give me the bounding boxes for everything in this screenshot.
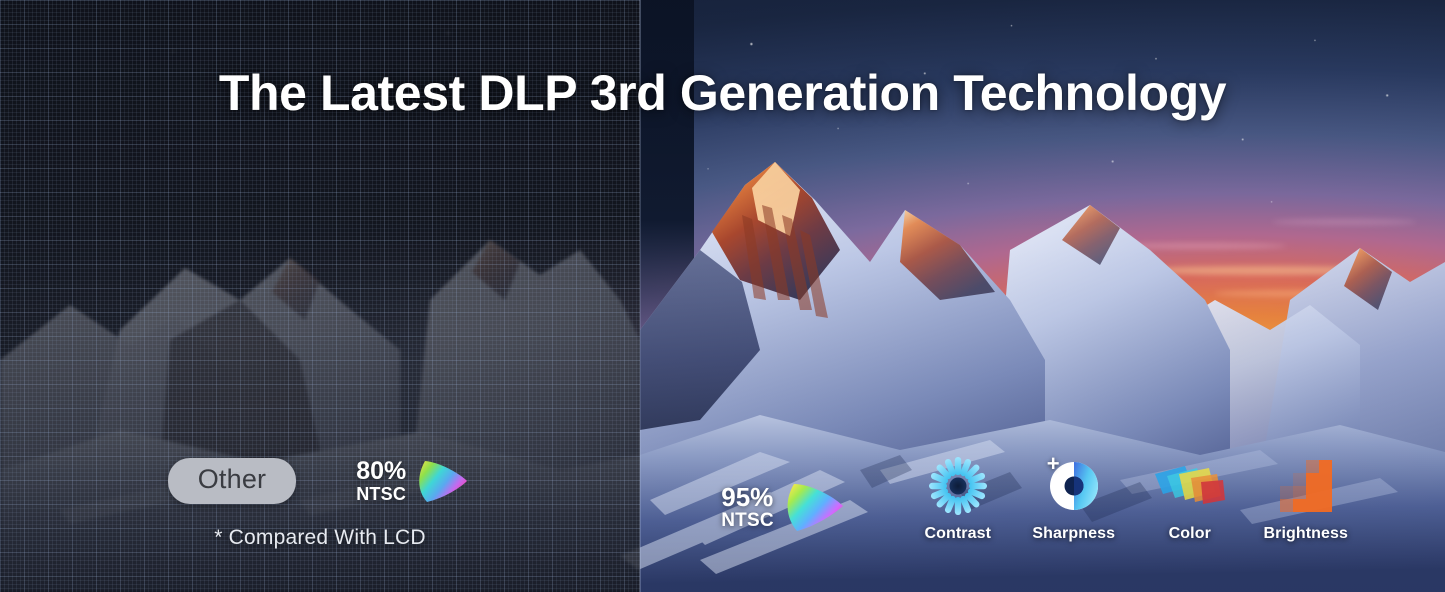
brightness-cell	[1306, 460, 1319, 473]
brightness-cell	[1306, 486, 1319, 499]
brightness-cell	[1293, 473, 1306, 486]
ntsc-95-label: NTSC	[721, 511, 774, 530]
brightness-cell	[1319, 460, 1332, 473]
dlp-panel-content: 95% NTSC	[640, 455, 1445, 543]
feature-contrast-label: Contrast	[924, 525, 991, 543]
brightness-cell	[1293, 499, 1306, 512]
comparison-footnote: * Compared With LCD	[0, 526, 640, 550]
brightness-cell	[1293, 460, 1306, 473]
brightness-cell	[1319, 473, 1332, 486]
other-label-pill: Other	[168, 458, 297, 503]
brightness-cell	[1306, 499, 1319, 512]
ntsc-95-percent: 95%	[721, 484, 774, 511]
plus-badge-icon: +	[1047, 453, 1060, 475]
contrast-burst-icon	[927, 455, 989, 517]
feature-brightness-label: Brightness	[1263, 525, 1348, 543]
ntsc-80-percent: 80%	[356, 459, 406, 485]
color-gamut-80-icon	[414, 455, 472, 507]
ntsc-80-label: NTSC	[356, 485, 406, 503]
brightness-cell	[1280, 460, 1293, 473]
feature-brightness: Brightness	[1248, 455, 1364, 543]
brightness-cell	[1293, 486, 1306, 499]
brightness-cell	[1280, 486, 1293, 499]
brightness-cell	[1280, 473, 1293, 486]
brightness-cell	[1319, 486, 1332, 499]
brightness-cell	[1319, 499, 1332, 512]
other-comparison-row: Other 80% NTSC	[0, 455, 640, 507]
ntsc-95-group: 95% NTSC	[721, 479, 848, 535]
feature-sharpness: + Sharpness	[1016, 455, 1132, 543]
feature-contrast: Contrast	[900, 455, 1016, 543]
ntsc-80-group: 80% NTSC	[356, 455, 472, 507]
page-title: The Latest DLP 3rd Generation Technology	[0, 64, 1445, 122]
feature-color-label: Color	[1169, 525, 1211, 543]
brightness-grid-icon	[1280, 455, 1332, 517]
color-layers-icon	[1151, 455, 1229, 517]
feature-color: Color	[1132, 455, 1248, 543]
other-panel-content: Other 80% NTSC	[0, 455, 640, 550]
brightness-pixel-grid	[1280, 460, 1332, 512]
feature-sharpness-label: Sharpness	[1032, 525, 1115, 543]
color-gamut-95-icon	[782, 479, 848, 535]
dlp-technology-banner: The Latest DLP 3rd Generation Technology…	[0, 0, 1445, 592]
ntsc-80-text: 80% NTSC	[356, 459, 406, 503]
sharpness-circle-icon: +	[1045, 455, 1103, 517]
brightness-cell	[1306, 473, 1319, 486]
brightness-cell	[1280, 499, 1293, 512]
ntsc-95-text: 95% NTSC	[721, 484, 774, 530]
